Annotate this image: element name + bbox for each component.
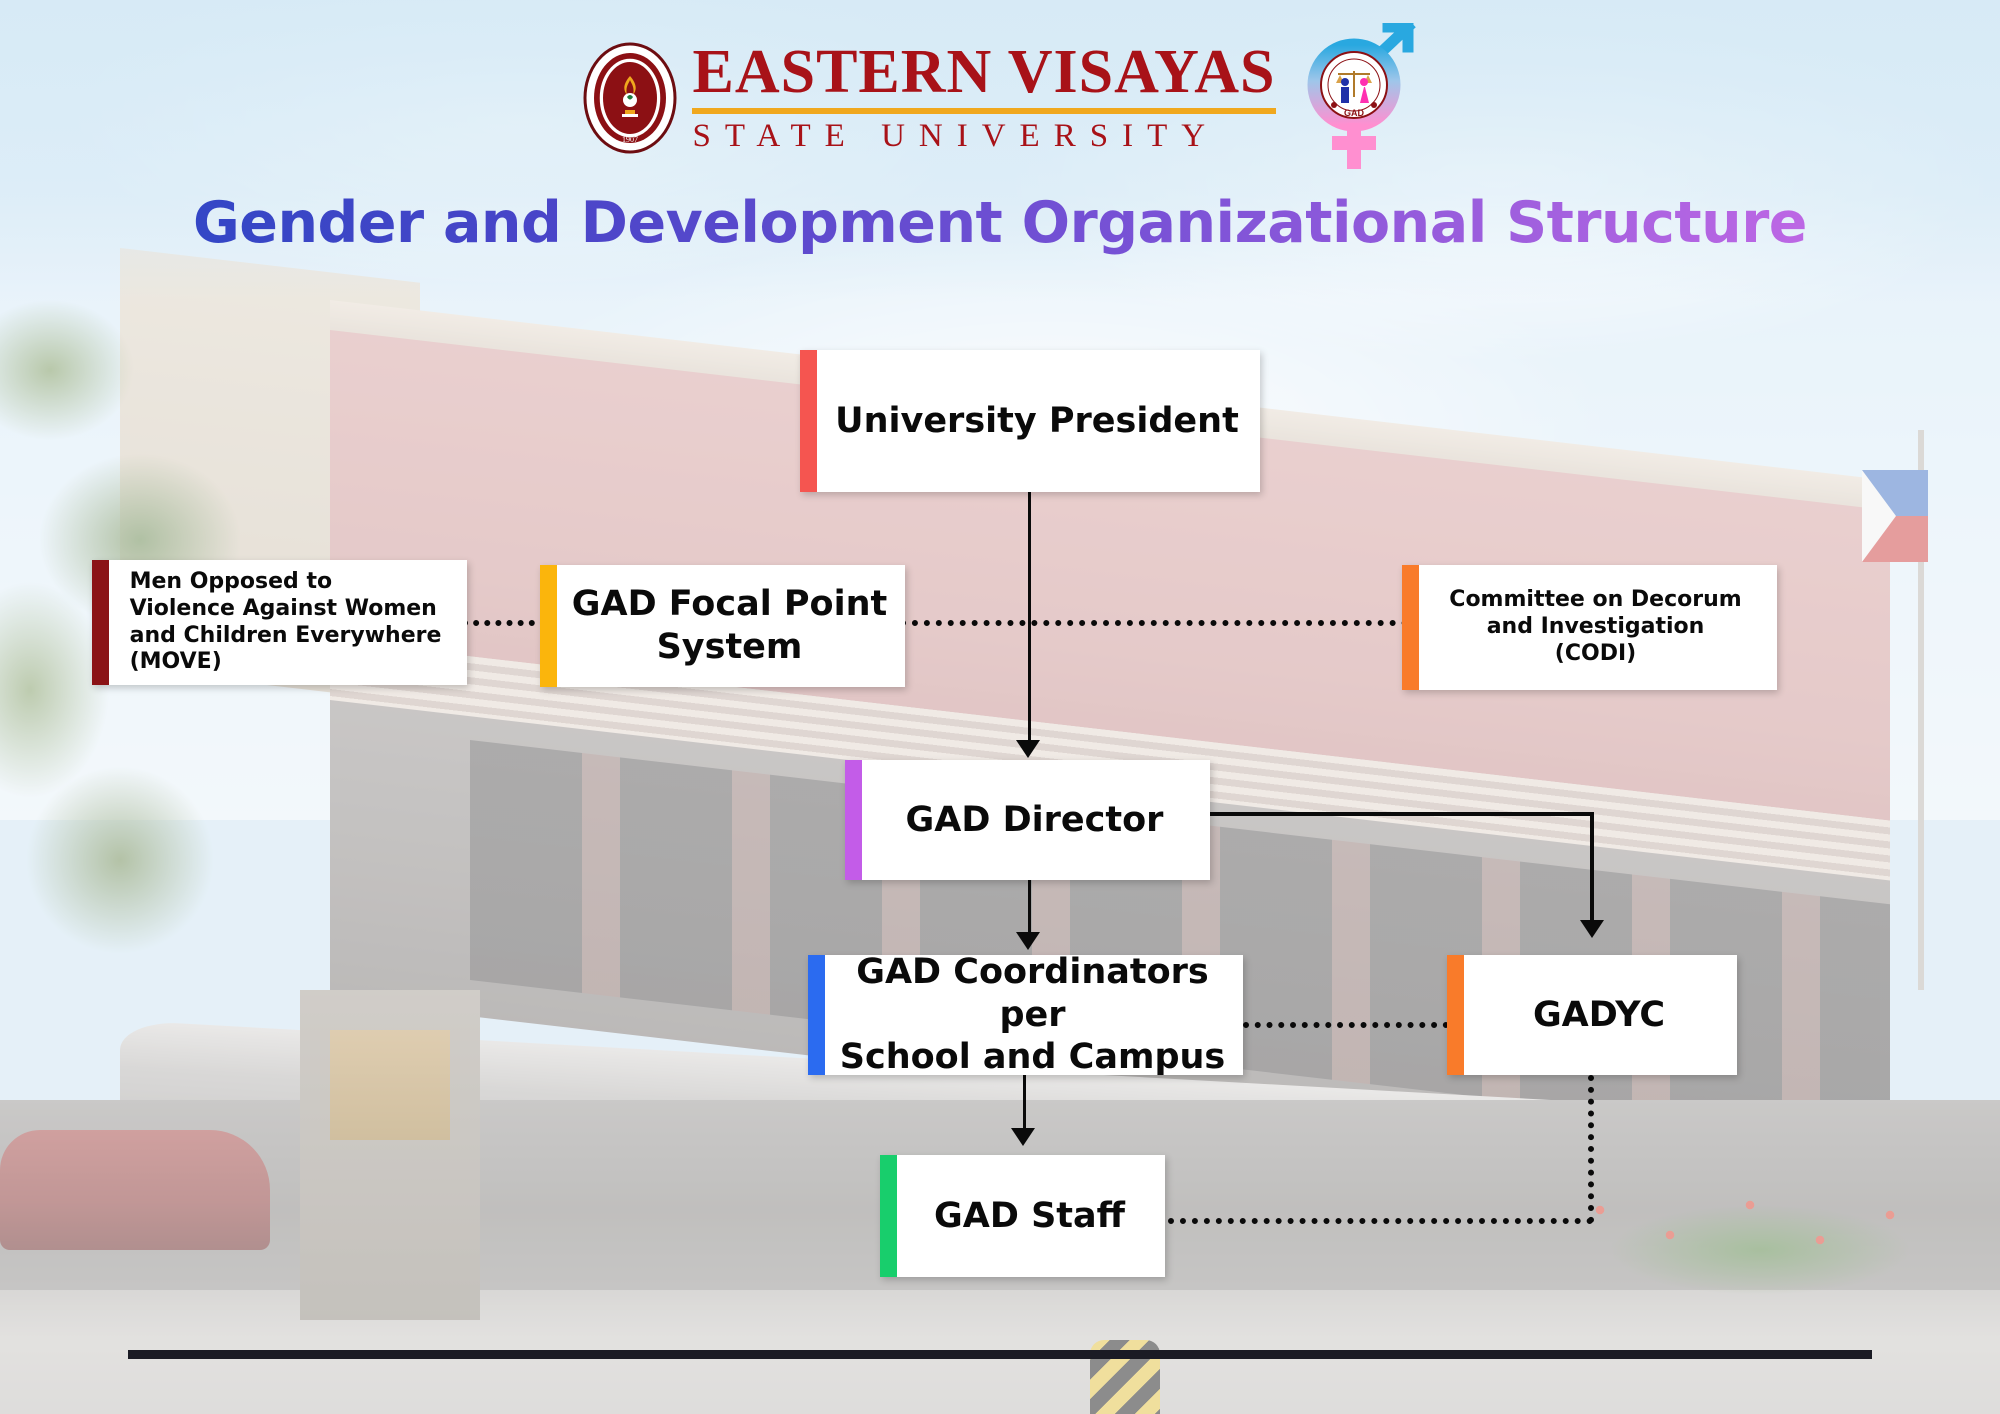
accent-bar-president bbox=[800, 350, 817, 492]
connector-gadyc-to-staff-horizontal bbox=[1168, 1218, 1593, 1224]
codi-line-3: (CODI) bbox=[1555, 641, 1636, 666]
node-label-focal: GAD Focal PointSystem bbox=[542, 583, 903, 668]
move-line-4: (MOVE) bbox=[130, 649, 222, 674]
connector-coordinators-to-staff bbox=[1023, 1075, 1026, 1133]
accent-bar-move bbox=[92, 560, 109, 685]
connector-move-to-focal bbox=[462, 620, 546, 626]
connector-gadyc-to-staff-vertical bbox=[1588, 1075, 1594, 1223]
node-move[interactable]: Men Opposed toViolence Against Womenand … bbox=[92, 560, 467, 685]
accent-bar-gadyc bbox=[1447, 955, 1464, 1075]
focal-line-2: System bbox=[657, 627, 803, 667]
node-label-coordinators: GAD Coordinators perSchool and Campus bbox=[808, 951, 1243, 1079]
node-gad-staff[interactable]: GAD Staff bbox=[880, 1155, 1165, 1277]
node-gadyc[interactable]: GADYC bbox=[1447, 955, 1737, 1075]
arrowhead-president-to-director bbox=[1016, 740, 1040, 758]
node-label-gadyc: GADYC bbox=[1503, 994, 1681, 1037]
accent-bar-staff bbox=[880, 1155, 897, 1277]
node-gad-coordinators[interactable]: GAD Coordinators perSchool and Campus bbox=[808, 955, 1243, 1075]
node-label-president: University President bbox=[805, 400, 1255, 443]
connector-president-to-director bbox=[1028, 492, 1031, 742]
node-university-president[interactable]: University President bbox=[800, 350, 1260, 492]
node-label-codi: Committee on Decorumand Investigation(CO… bbox=[1423, 587, 1755, 667]
arrowhead-coordinators-to-staff bbox=[1011, 1128, 1035, 1146]
focal-line-1: GAD Focal Point bbox=[572, 584, 887, 624]
connector-coordinators-to-gadyc bbox=[1243, 1022, 1449, 1028]
codi-line-2: and Investigation bbox=[1487, 614, 1705, 639]
node-label-staff: GAD Staff bbox=[904, 1195, 1141, 1238]
node-label-director: GAD Director bbox=[876, 799, 1180, 842]
connector-focal-to-codi bbox=[900, 620, 1408, 626]
bottom-divider-rule bbox=[128, 1350, 1872, 1359]
codi-line-1: Committee on Decorum bbox=[1449, 587, 1741, 612]
poster-canvas: 1907 EASTERN VISAYAS STATE UNIVERSITY bbox=[0, 0, 2000, 1414]
move-line-2: Violence Against Women bbox=[130, 596, 437, 621]
node-gad-focal-point-system[interactable]: GAD Focal PointSystem bbox=[540, 565, 905, 687]
accent-bar-director bbox=[845, 760, 862, 880]
node-codi[interactable]: Committee on Decorumand Investigation(CO… bbox=[1402, 565, 1777, 690]
connector-director-to-gadyc-horizontal bbox=[1208, 812, 1594, 816]
arrowhead-director-to-coordinators bbox=[1016, 932, 1040, 950]
node-label-move: Men Opposed toViolence Against Womenand … bbox=[104, 569, 456, 676]
move-line-1: Men Opposed to bbox=[130, 569, 333, 594]
accent-bar-focal bbox=[540, 565, 557, 687]
coordinators-line-2: School and Campus bbox=[840, 1037, 1226, 1077]
coordinators-line-1: GAD Coordinators per bbox=[856, 952, 1209, 1035]
accent-bar-coordinators bbox=[808, 955, 825, 1075]
accent-bar-codi bbox=[1402, 565, 1419, 690]
node-gad-director[interactable]: GAD Director bbox=[845, 760, 1210, 880]
org-chart: University President Men Opposed toViole… bbox=[0, 0, 2000, 1414]
move-line-3: and Children Everywhere bbox=[130, 623, 442, 648]
arrowhead-director-to-gadyc bbox=[1580, 920, 1604, 938]
connector-director-to-coordinators bbox=[1028, 880, 1031, 936]
connector-director-to-gadyc-vertical bbox=[1590, 812, 1594, 924]
